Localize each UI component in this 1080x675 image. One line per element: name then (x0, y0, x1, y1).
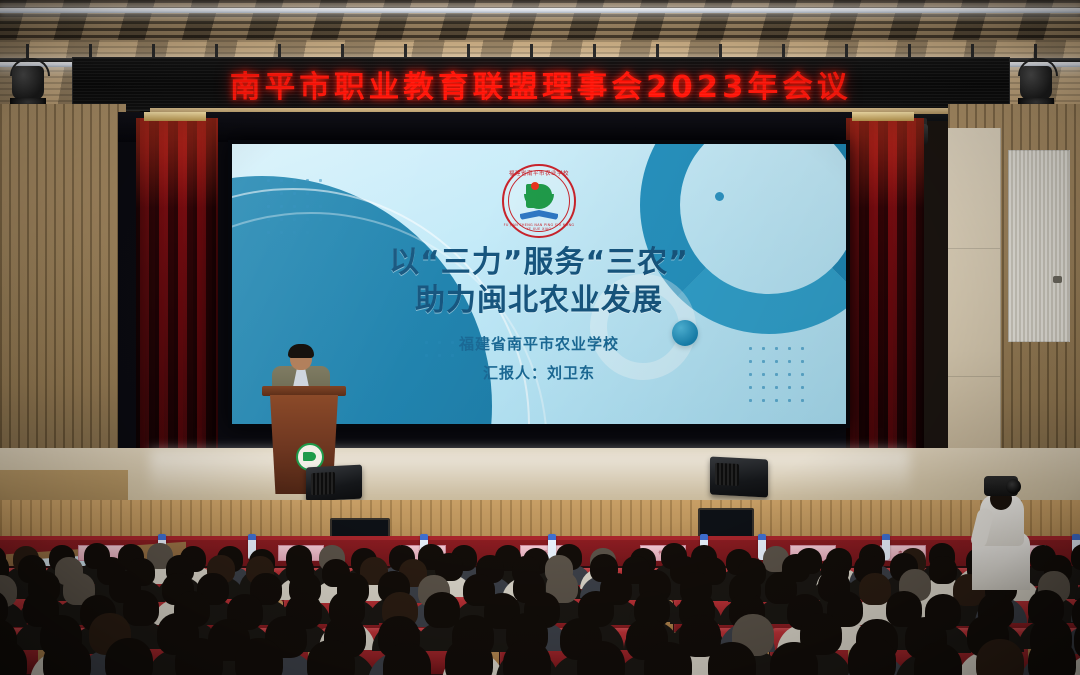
audience-member-head (43, 639, 91, 675)
monitor-grille (311, 472, 335, 495)
audience-member-head (105, 638, 153, 675)
podium-top-surface (262, 386, 346, 396)
led-banner-text: 南平市职业教育联盟理事会2023年会议 (230, 62, 852, 106)
stage-floor-reflection (150, 450, 910, 498)
valance-light-left (144, 112, 206, 121)
emblem-sun-icon (531, 182, 539, 190)
emblem-chinese-text: 福建省南平市农业学校 (502, 169, 576, 177)
led-banner: 南平市职业教育联盟理事会2023年会议 (72, 57, 1010, 111)
wall-fixture-knob (1053, 276, 1062, 283)
decor-dot-grid-top-left-icon (260, 172, 322, 234)
stage-monitor-left (306, 465, 362, 502)
stage-monitor-right (710, 456, 768, 497)
monitor-grille (715, 463, 739, 486)
audience-member-head (1028, 638, 1076, 675)
audience-member-head (976, 639, 1024, 675)
slide-subtitle-org: 福建省南平市农业学校 (232, 330, 846, 359)
slide-title-line-1: 以“三力”服务“三农” (232, 244, 846, 282)
acoustic-panel (1008, 150, 1070, 342)
audience-member-head (235, 638, 283, 675)
photographer (966, 470, 1034, 590)
stage-curtain-right (846, 118, 924, 482)
audience-member-head (848, 637, 896, 675)
school-emblem-icon: 福建省南平市农业学校 FU JIAN SHENG NAN PING SHI NO… (502, 164, 576, 238)
audience-member-head (859, 573, 891, 605)
emblem-pinyin-text: FU JIAN SHENG NAN PING SHI NONG YE XUE X… (502, 223, 576, 231)
audience-member-head (123, 590, 159, 626)
valance-light-right (852, 112, 914, 121)
audience-member-head (175, 638, 223, 675)
stage-curtain-left (136, 118, 218, 482)
audience-member-head (929, 556, 957, 584)
audience-member-head (445, 638, 493, 675)
camera-icon (984, 476, 1018, 496)
proscenium-header (118, 112, 858, 142)
left-wood-wall (0, 104, 126, 504)
right-beige-wall-panel (948, 128, 1001, 498)
audience-member-head (424, 592, 460, 628)
slide-title-line-2: 助力闽北农业发展 (232, 282, 846, 320)
speaker-hair (288, 344, 314, 358)
slide-title: 以“三力”服务“三农” 助力闽北农业发展 (232, 244, 846, 321)
auditorium-conference-photo: 南平市职业教育联盟理事会2023年会议 福建省 (0, 0, 1080, 675)
decor-dot-top-right-icon (715, 192, 724, 201)
fluorescent-strip-upper (0, 8, 1080, 13)
